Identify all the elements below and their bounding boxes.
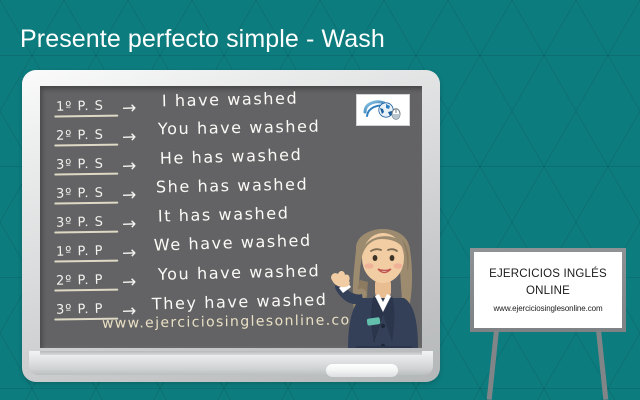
easel-leg-right: [596, 330, 608, 400]
chalk-stick: [326, 364, 398, 377]
ledge-lip: [40, 351, 422, 355]
easel-title-line2: ONLINE: [526, 285, 570, 297]
conjugation-phrase: You have washed: [158, 117, 321, 139]
conjugation-phrase: It has washed: [158, 203, 290, 225]
teacher-illustration: [316, 206, 422, 348]
conjugation-phrase: We have washed: [154, 231, 312, 255]
easel-url: www.ejerciciosinglesonline.com: [493, 304, 602, 313]
person-tag-text: 3º P. S: [56, 186, 104, 202]
arrow-icon: →: [122, 93, 159, 118]
chalkboard-surface: 1º P. S → I have washed 2º P. S → You ha…: [40, 86, 422, 348]
underline-rule: [54, 260, 118, 263]
conjugation-phrase: I have washed: [162, 88, 299, 110]
person-tag: 3º P. S: [56, 180, 122, 202]
conjugation-phrase: He has washed: [160, 145, 303, 168]
person-tag-text: 1º P. S: [56, 99, 104, 115]
easel-paper: EJERCICIOS INGLÉS ONLINE www.ejerciciosi…: [474, 252, 622, 328]
person-tag: 3º P. S: [56, 151, 122, 173]
person-tag-text: 3º P. S: [56, 157, 104, 173]
person-tag: 2º P. P: [56, 267, 122, 289]
underline-rule: [54, 202, 118, 205]
arrow-icon: →: [122, 267, 159, 292]
chalkboard: 1º P. S → I have washed 2º P. S → You ha…: [22, 70, 440, 382]
person-tag-text: 1º P. P: [56, 244, 104, 260]
person-tag-text: 3º P. S: [56, 215, 104, 231]
person-tag: 2º P. S: [56, 122, 122, 144]
easel-whiteboard: EJERCICIOS INGLÉS ONLINE www.ejerciciosi…: [470, 248, 626, 332]
person-tag-text: 2º P. S: [56, 128, 104, 144]
arrow-icon: →: [122, 122, 159, 147]
underline-rule: [54, 144, 118, 147]
arrow-icon: →: [122, 180, 159, 205]
person-tag-text: 2º P. P: [56, 273, 104, 289]
easel-leg-left: [487, 330, 499, 400]
arrow-icon: →: [122, 209, 159, 234]
easel-title-line1: EJERCICIOS INGLÉS: [489, 268, 607, 280]
conjugation-phrase: She has washed: [156, 175, 309, 197]
underline-rule: [54, 173, 118, 176]
conjugation-phrase: They have washed: [152, 290, 328, 314]
person-tag-text: 3º P. P: [56, 302, 104, 318]
underline-rule: [54, 115, 118, 118]
underline-rule: [54, 289, 118, 292]
arrow-icon: →: [122, 151, 159, 176]
easel: EJERCICIOS INGLÉS ONLINE www.ejerciciosi…: [462, 248, 634, 400]
conjugation-phrase: You have washed: [158, 261, 321, 284]
page-title: Presente perfecto simple - Wash: [20, 25, 385, 54]
person-tag: 1º P. S: [56, 93, 122, 115]
person-tag: 3º P. P: [56, 296, 122, 318]
underline-rule: [54, 231, 118, 234]
person-tag: 3º P. S: [56, 209, 122, 231]
person-tag: 1º P. P: [56, 238, 122, 260]
